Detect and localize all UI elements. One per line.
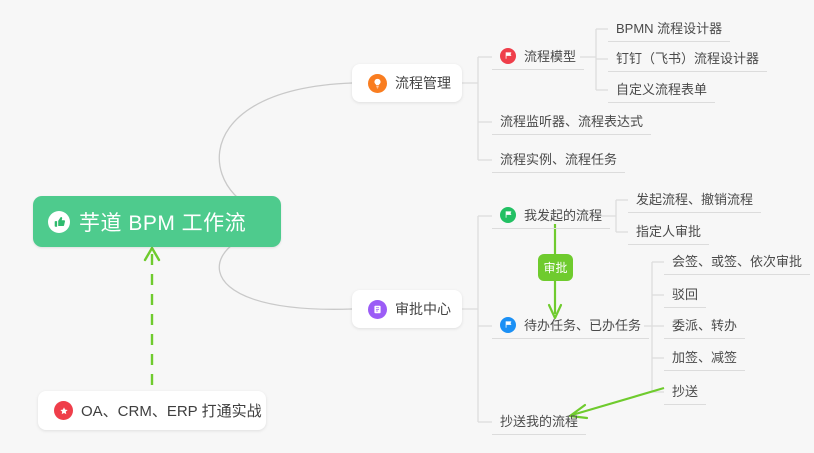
thumbs-up-icon <box>48 211 70 233</box>
node-label-my-started-flows: 我发起的流程 <box>524 205 602 224</box>
mindmap-canvas: 芋道 BPM 工作流 流程管理 流程模型 流程监听器、流程表达式 流程实例、流程… <box>0 0 814 453</box>
annotation-tag-approve-label: 审批 <box>543 259 567 276</box>
node-label-cc: 抄送 <box>672 381 698 400</box>
node-todo-done-tasks[interactable]: 待办任务、已办任务 <box>492 313 649 339</box>
note-oa-crm-erp[interactable]: OA、CRM、ERP 打通实战 <box>38 391 266 430</box>
flag-red-icon <box>500 48 516 64</box>
node-label-flow-listener: 流程监听器、流程表达式 <box>500 111 643 130</box>
annotation-tag-approve: 审批 <box>538 254 573 281</box>
node-countersign[interactable]: 会签、或签、依次审批 <box>664 249 810 275</box>
node-start-cancel-flow[interactable]: 发起流程、撤销流程 <box>628 187 761 213</box>
node-label-todo-done-tasks: 待办任务、已办任务 <box>524 315 641 334</box>
node-label-reject: 驳回 <box>672 284 698 303</box>
lightbulb-icon <box>368 74 387 93</box>
branch-label-approval-center: 审批中心 <box>395 299 451 319</box>
node-label-countersign: 会签、或签、依次审批 <box>672 251 802 270</box>
node-label-add-remove-sign: 加签、减签 <box>672 347 737 366</box>
node-label-cc-to-me: 抄送我的流程 <box>500 411 578 430</box>
branch-label-flow-management: 流程管理 <box>395 73 451 93</box>
node-dingtalk-designer[interactable]: 钉钉（飞书）流程设计器 <box>608 46 767 72</box>
root-label: 芋道 BPM 工作流 <box>79 207 246 237</box>
star-icon <box>54 401 73 420</box>
node-assignee-approval[interactable]: 指定人审批 <box>628 219 709 245</box>
clipboard-icon <box>368 300 387 319</box>
node-label-custom-form: 自定义流程表单 <box>616 79 707 98</box>
node-cc[interactable]: 抄送 <box>664 379 706 405</box>
node-flow-instance[interactable]: 流程实例、流程任务 <box>492 147 625 173</box>
node-label-flow-model: 流程模型 <box>524 46 576 65</box>
node-delegate-transfer[interactable]: 委派、转办 <box>664 313 745 339</box>
node-add-remove-sign[interactable]: 加签、减签 <box>664 345 745 371</box>
node-label-dingtalk-designer: 钉钉（飞书）流程设计器 <box>616 48 759 67</box>
flag-blue-icon <box>500 317 516 333</box>
node-reject[interactable]: 驳回 <box>664 282 706 308</box>
node-label-flow-instance: 流程实例、流程任务 <box>500 149 617 168</box>
node-custom-form[interactable]: 自定义流程表单 <box>608 77 715 103</box>
root-node[interactable]: 芋道 BPM 工作流 <box>33 196 281 247</box>
node-flow-model[interactable]: 流程模型 <box>492 44 584 70</box>
note-oa-crm-erp-label: OA、CRM、ERP 打通实战 <box>81 400 262 421</box>
branch-node-flow-management[interactable]: 流程管理 <box>352 64 462 102</box>
node-cc-to-me[interactable]: 抄送我的流程 <box>492 409 586 435</box>
branch-node-approval-center[interactable]: 审批中心 <box>352 290 462 328</box>
node-label-bpmn-designer: BPMN 流程设计器 <box>616 18 722 37</box>
node-my-started-flows[interactable]: 我发起的流程 <box>492 203 610 229</box>
flag-green-icon <box>500 207 516 223</box>
node-bpmn-designer[interactable]: BPMN 流程设计器 <box>608 16 730 42</box>
node-label-assignee-approval: 指定人审批 <box>636 221 701 240</box>
node-label-start-cancel-flow: 发起流程、撤销流程 <box>636 189 753 208</box>
node-flow-listener[interactable]: 流程监听器、流程表达式 <box>492 109 651 135</box>
node-label-delegate-transfer: 委派、转办 <box>672 315 737 334</box>
